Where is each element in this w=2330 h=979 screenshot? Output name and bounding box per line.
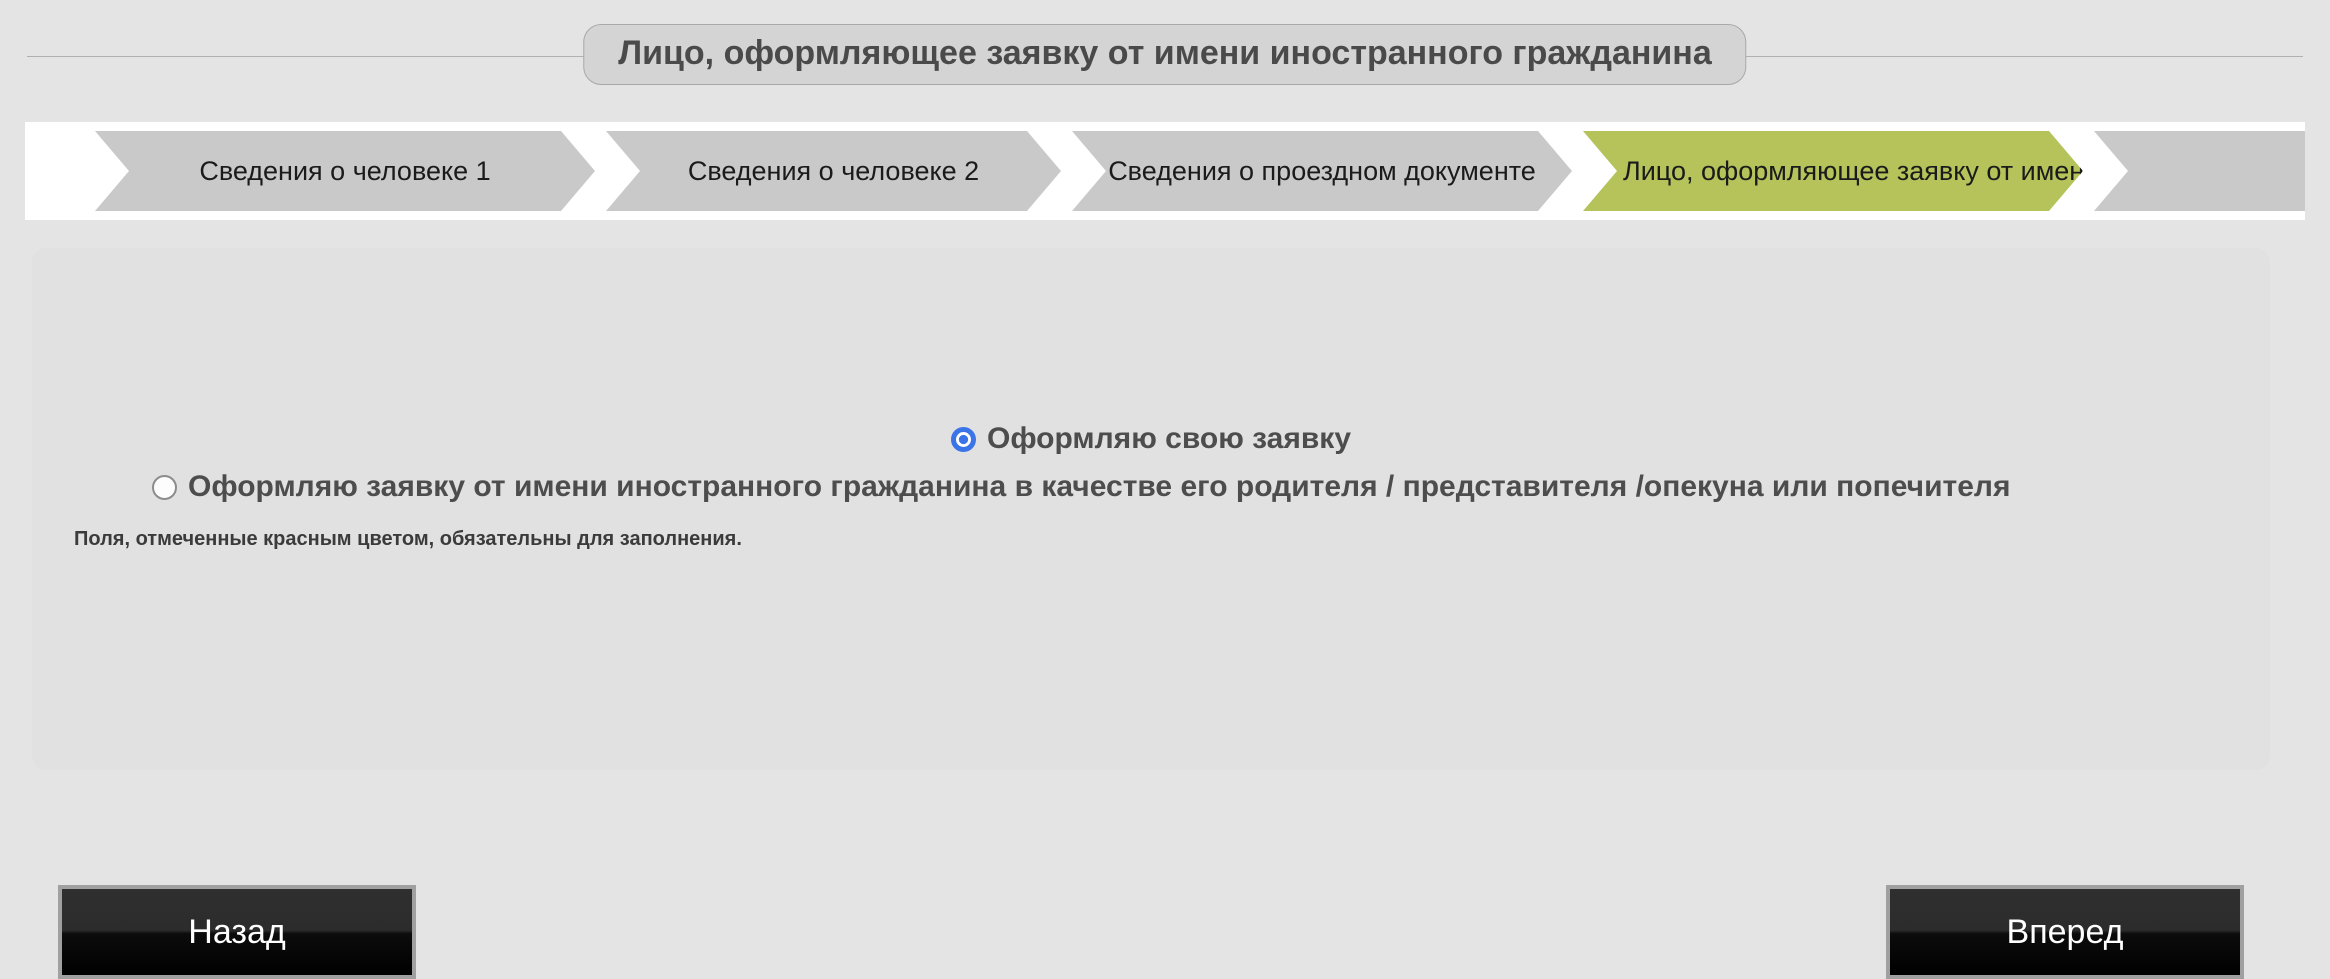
radio-option-label: Оформляю заявку от имени иностранного гр… [188, 472, 2010, 502]
step-item-2[interactable]: Сведения о человеке 2 [606, 131, 1061, 211]
page-root: Лицо, оформляющее заявку от имени иностр… [0, 0, 2330, 798]
step-progress-bar: Сведения о человеке 1 Сведения о человек… [25, 122, 2305, 220]
step-label: Сведения о человеке 2 [688, 158, 979, 185]
content-panel: Оформляю свою заявку Оформляю заявку от … [32, 248, 2270, 770]
radio-unselected-icon[interactable] [152, 475, 177, 500]
back-button[interactable]: Назад [58, 885, 416, 979]
next-button[interactable]: Вперед [1886, 885, 2244, 979]
page-title: Лицо, оформляющее заявку от имени иностр… [583, 24, 1746, 85]
back-button-label: Назад [62, 889, 412, 975]
required-fields-note: Поля, отмеченные красным цветом, обязате… [74, 528, 742, 551]
step-list: Сведения о человеке 1 Сведения о человек… [95, 131, 2305, 211]
radio-option-label: Оформляю свою заявку [987, 424, 1351, 454]
radio-option-representative[interactable]: Оформляю заявку от имени иностранного гр… [152, 472, 2010, 502]
step-item-3[interactable]: Сведения о проездном документе [1072, 131, 1572, 211]
step-item-5[interactable] [2094, 131, 2305, 211]
next-button-label: Вперед [1890, 889, 2240, 975]
fieldset-legend: Лицо, оформляющее заявку от имени иностр… [0, 0, 2330, 110]
step-label: Сведения о человеке 1 [199, 158, 490, 185]
radio-selected-icon[interactable] [951, 427, 976, 452]
step-item-4-active[interactable]: Лицо, оформляющее заявку от имени иностр… [1583, 131, 2083, 211]
step-label: Сведения о проездном документе [1108, 158, 1536, 185]
radio-option-own-application[interactable]: Оформляю свою заявку [951, 424, 1351, 454]
step-item-1[interactable]: Сведения о человеке 1 [95, 131, 595, 211]
